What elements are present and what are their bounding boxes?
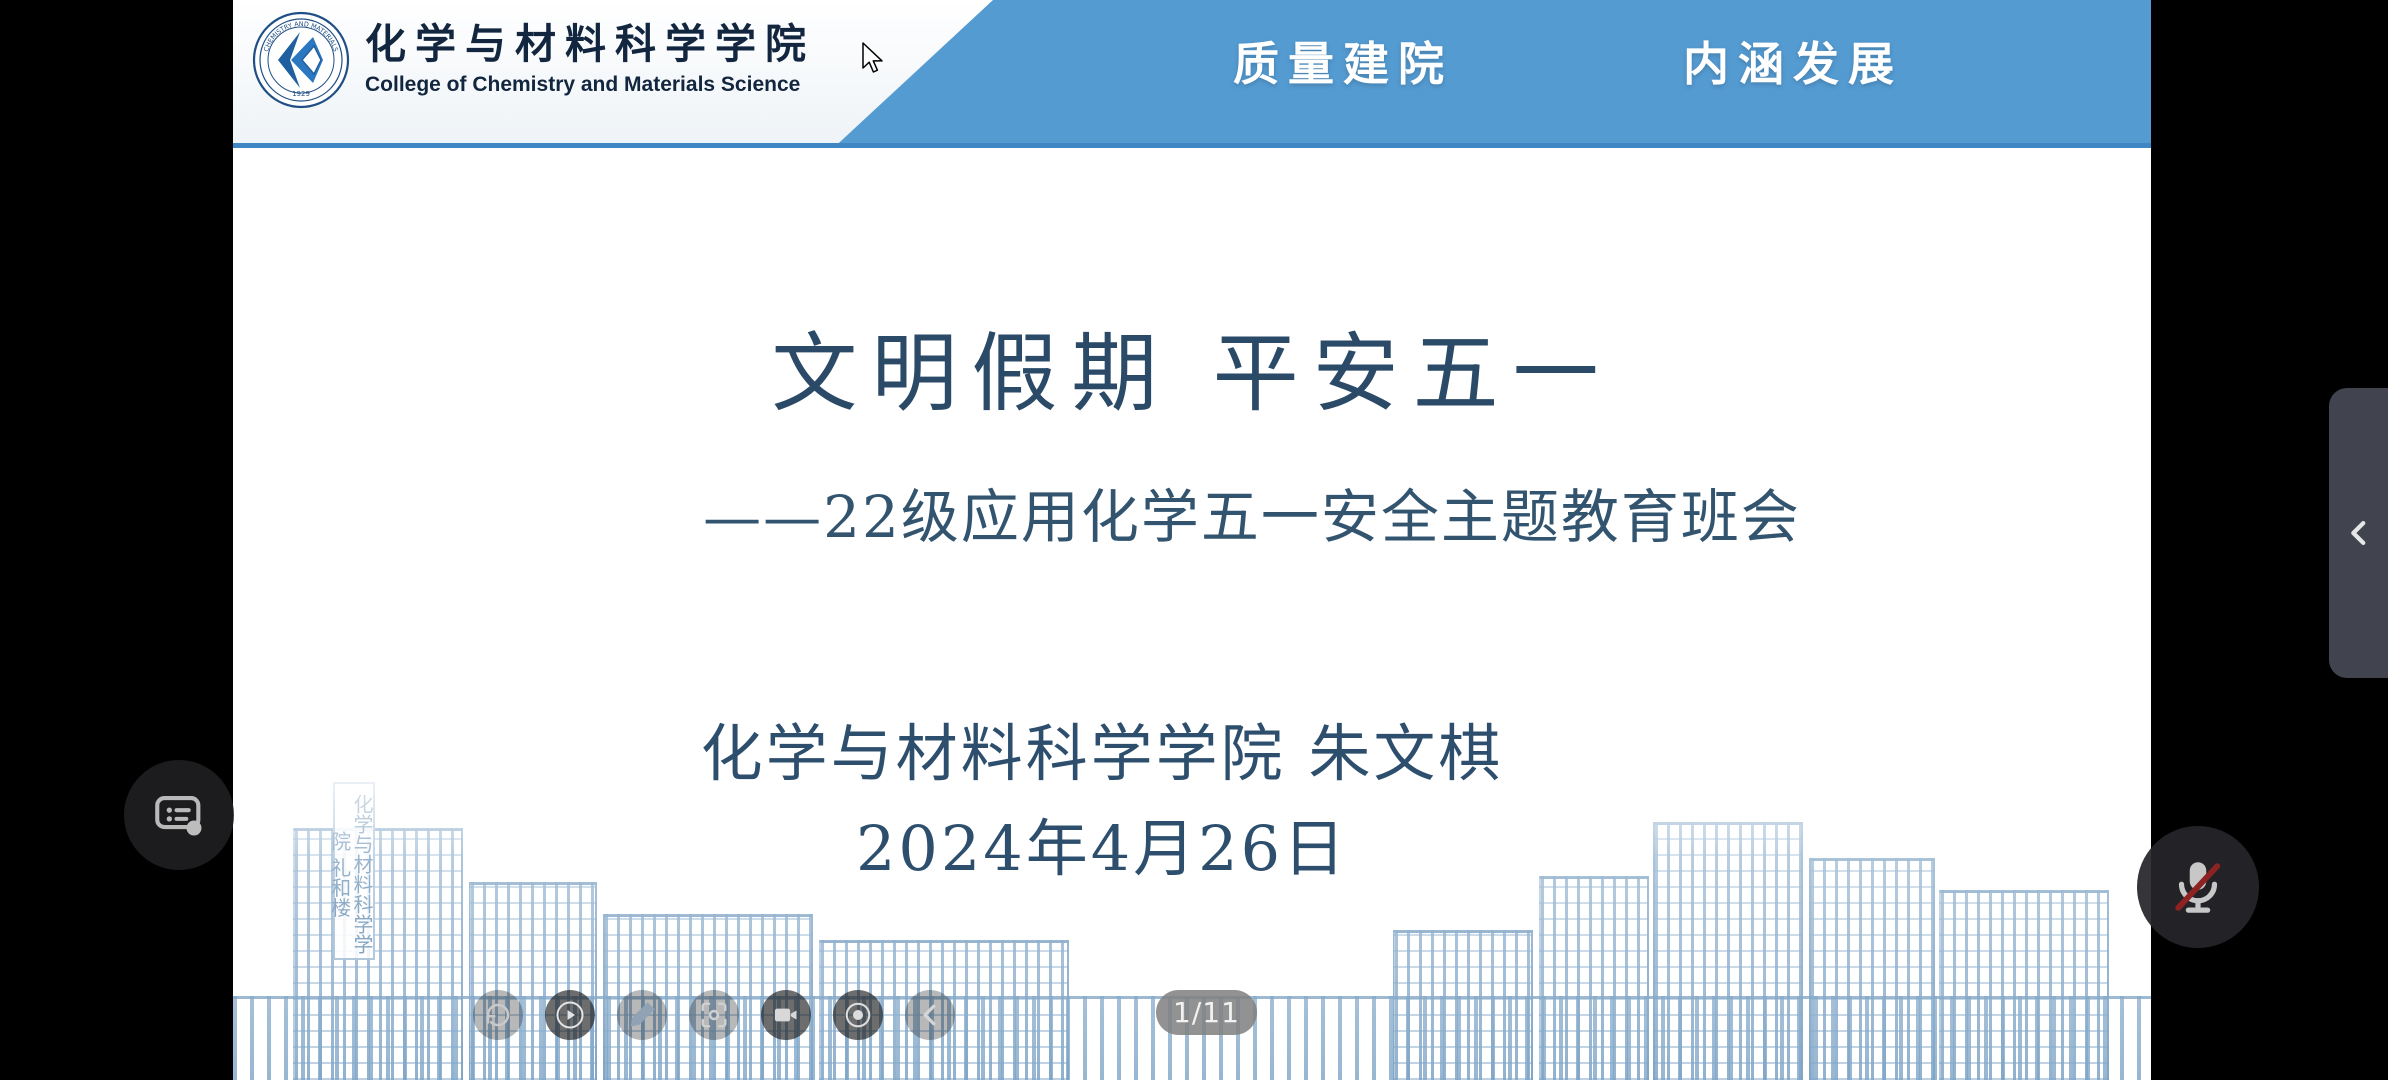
slide-header-banner: 1929 CHEMISTRY AND MATERIALS 化学与材料科学学院 C… xyxy=(233,0,2151,148)
rotate-icon[interactable] xyxy=(473,990,523,1040)
letterbox-left xyxy=(0,0,233,1080)
college-logo-icon: 1929 CHEMISTRY AND MATERIALS xyxy=(251,10,351,110)
slide-subtitle: ——22级应用化学五一安全主题教育班会 xyxy=(233,470,2151,554)
shared-slide-stage[interactable]: 1929 CHEMISTRY AND MATERIALS 化学与材料科学学院 C… xyxy=(233,0,2151,1080)
player-toolbar[interactable] xyxy=(473,985,955,1045)
chevron-left-icon[interactable] xyxy=(2329,388,2388,678)
screen-root: 1929 CHEMISTRY AND MATERIALS 化学与材料科学学院 C… xyxy=(0,0,2388,1080)
play-icon[interactable] xyxy=(545,990,595,1040)
slide-presenter: 化学与材料科学学院 朱文棋 xyxy=(233,703,2151,793)
microphone-muted-icon[interactable] xyxy=(2137,826,2259,948)
prev-icon[interactable] xyxy=(905,990,955,1040)
slide-title: 文明假期 平安五一 xyxy=(233,303,2151,428)
chat-bubble-icon[interactable] xyxy=(124,760,234,870)
mouse-pointer xyxy=(861,42,887,76)
svg-text:1929: 1929 xyxy=(292,90,310,98)
video-icon[interactable] xyxy=(761,990,811,1040)
pen-icon[interactable] xyxy=(617,990,667,1040)
page-indicator: 1/11 xyxy=(1156,990,1257,1035)
college-name-en: College of Chemistry and Materials Scien… xyxy=(365,71,815,98)
banner-slogan-2: 内涵发展 xyxy=(1683,28,1903,94)
slide-content: 化学与材料科学学院 礼和楼 文明假期 平安五一 ——22级应用化学五一安全主题教… xyxy=(233,148,2151,1080)
record-icon[interactable] xyxy=(833,990,883,1040)
slide-date: 2024年4月26日 xyxy=(233,798,2151,888)
college-name-cn: 化学与材料科学学院 xyxy=(365,21,815,68)
banner-slogan-1: 质量建院 xyxy=(1233,28,1453,94)
screenshot-icon[interactable] xyxy=(689,990,739,1040)
college-brand: 1929 CHEMISTRY AND MATERIALS 化学与材料科学学院 C… xyxy=(251,10,815,110)
